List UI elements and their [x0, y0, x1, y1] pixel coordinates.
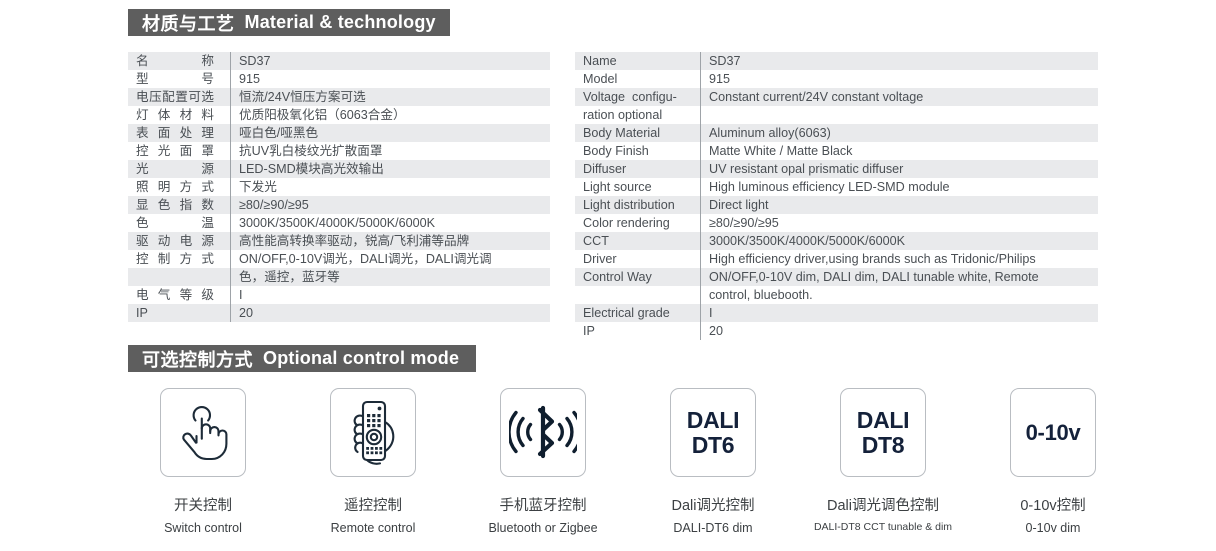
- spec-value: ON/OFF,0-10V调光，DALI调光，DALI调光调: [230, 250, 550, 268]
- spec-row: IP20: [575, 322, 1098, 340]
- control-mode-card[interactable]: [500, 388, 586, 477]
- spec-row: Electrical gradeI: [575, 304, 1098, 322]
- spec-value: LED-SMD模块高光效输出: [230, 160, 550, 178]
- spec-row: 型号915: [128, 70, 550, 88]
- control-mode-list: 开关控制Switch control 遥控控制Remote control: [128, 388, 1128, 535]
- spec-row: 表面处理哑白色/哑黑色: [128, 124, 550, 142]
- spec-label: Body Finish: [575, 142, 700, 160]
- control-mode-label-cn: 遥控控制: [344, 494, 402, 515]
- spec-value: 3000K/3500K/4000K/5000K/6000K: [700, 232, 1098, 250]
- control-mode-label-en: DALI-DT8 CCT tunable & dim: [814, 521, 952, 533]
- spec-label: Color rendering: [575, 214, 700, 232]
- spec-value: 915: [700, 70, 1098, 88]
- spec-label: IP: [128, 304, 230, 322]
- section-header-material-en: Material & technology: [245, 12, 436, 33]
- spec-row: 驱动电源高性能高转换率驱动，锐高/飞利浦等品牌: [128, 232, 550, 250]
- control-mode-card[interactable]: 0-10v: [1010, 388, 1096, 477]
- control-mode-label-en: Switch control: [164, 521, 242, 535]
- spec-label: Light distribution: [575, 196, 700, 214]
- spec-label: 光源: [128, 160, 230, 178]
- spec-label: 控光面罩: [128, 142, 230, 160]
- spec-label-text: 控光面罩: [136, 143, 214, 159]
- section-header-material-cn: 材质与工艺: [142, 10, 235, 36]
- control-mode-label-cn: 手机蓝牙控制: [500, 494, 587, 515]
- spec-label-text: 驱动电源: [136, 233, 214, 249]
- spec-label: CCT: [575, 232, 700, 250]
- spec-value: Matte White / Matte Black: [700, 142, 1098, 160]
- spec-label-text: 色温: [136, 215, 214, 231]
- control-mode-item[interactable]: DALIDT8Dali调光调色控制DALI-DT8 CCT tunable & …: [808, 388, 958, 535]
- spec-value: Direct light: [700, 196, 1098, 214]
- control-mode-label-cn: 开关控制: [174, 494, 232, 515]
- spec-label: 灯体材料: [128, 106, 230, 124]
- spec-value: ON/OFF,0-10V dim, DALI dim, DALI tunable…: [700, 268, 1098, 286]
- spec-label: Voltage configu-: [575, 88, 700, 106]
- spec-row: DriverHigh efficiency driver,using brand…: [575, 250, 1098, 268]
- spec-label-text: 型号: [136, 71, 214, 87]
- spec-row: control, bluebooth.: [575, 286, 1098, 304]
- spec-row: Voltage configu-Constant current/24V con…: [575, 88, 1098, 106]
- dali-dt6-badge-icon: DALIDT6: [687, 408, 739, 458]
- spec-row: DiffuserUV resistant opal prismatic diff…: [575, 160, 1098, 178]
- spec-label: 电气等级: [128, 286, 230, 304]
- spec-row: 照明方式下发光: [128, 178, 550, 196]
- dali-dt8-badge-icon: DALIDT8: [857, 408, 909, 458]
- control-mode-card[interactable]: [160, 388, 246, 477]
- spec-row: 显色指数≥80/≥90/≥95: [128, 196, 550, 214]
- spec-row: Color rendering≥80/≥90/≥95: [575, 214, 1098, 232]
- spec-row: 色温3000K/3500K/4000K/5000K/6000K: [128, 214, 550, 232]
- spec-row: 电气等级I: [128, 286, 550, 304]
- spec-value: 优质阳极氧化铝（6063合金）: [230, 106, 550, 124]
- section-header-control-mode: 可选控制方式 Optional control mode: [128, 345, 476, 372]
- spec-label: 显色指数: [128, 196, 230, 214]
- spec-label: Light source: [575, 178, 700, 196]
- spec-row: 电压配置可选恒流/24V恒压方案可选: [128, 88, 550, 106]
- spec-row: 灯体材料优质阳极氧化铝（6063合金）: [128, 106, 550, 124]
- control-mode-label-en: DALI-DT6 dim: [673, 521, 752, 535]
- spec-value: 915: [230, 70, 550, 88]
- spec-row: ration optional: [575, 106, 1098, 124]
- spec-row: IP20: [128, 304, 550, 322]
- spec-label: [128, 268, 230, 270]
- spec-value: High luminous efficiency LED-SMD module: [700, 178, 1098, 196]
- spec-table-chinese: 名称SD37型号915电压配置可选恒流/24V恒压方案可选灯体材料优质阳极氧化铝…: [128, 52, 550, 322]
- spec-value: 下发光: [230, 178, 550, 196]
- spec-value: 恒流/24V恒压方案可选: [230, 88, 550, 106]
- control-mode-label-en: Remote control: [331, 521, 416, 535]
- spec-value: SD37: [700, 52, 1098, 70]
- spec-value: 抗UV乳白棱纹光扩散面罩: [230, 142, 550, 160]
- spec-label: 照明方式: [128, 178, 230, 196]
- spec-row: Light sourceHigh luminous efficiency LED…: [575, 178, 1098, 196]
- control-mode-label-en: 0-10v dim: [1026, 521, 1081, 535]
- spec-label-text: 显色指数: [136, 197, 214, 213]
- zero-to-ten-volt-badge-icon: 0-10v: [1026, 421, 1081, 445]
- control-mode-label-cn: Dali调光调色控制: [827, 494, 939, 515]
- spec-label-text: 名称: [136, 53, 214, 69]
- control-mode-item[interactable]: 0-10v0-10v控制0-10v dim: [978, 388, 1128, 535]
- spec-table-english: NameSD37Model915Voltage configu-Constant…: [575, 52, 1098, 340]
- spec-label-text: 灯体材料: [136, 107, 214, 123]
- spec-label: Diffuser: [575, 160, 700, 178]
- spec-label: 电压配置可选: [128, 88, 230, 106]
- control-mode-item[interactable]: 遥控控制Remote control: [298, 388, 448, 535]
- spec-value: control, bluebooth.: [700, 286, 1098, 304]
- section-header-material: 材质与工艺 Material & technology: [128, 9, 450, 36]
- spec-row: Body MaterialAluminum alloy(6063): [575, 124, 1098, 142]
- spec-value: UV resistant opal prismatic diffuser: [700, 160, 1098, 178]
- spec-row: Model915: [575, 70, 1098, 88]
- control-mode-label-cn: Dali调光控制: [672, 494, 755, 515]
- spec-value: Constant current/24V constant voltage: [700, 88, 1098, 106]
- spec-value: High efficiency driver,using brands such…: [700, 250, 1098, 268]
- table-column-divider: [700, 52, 701, 340]
- touch-hand-icon: [175, 402, 231, 464]
- spec-row: 控光面罩抗UV乳白棱纹光扩散面罩: [128, 142, 550, 160]
- spec-label: 色温: [128, 214, 230, 232]
- spec-label: 表面处理: [128, 124, 230, 142]
- spec-row: Body FinishMatte White / Matte Black: [575, 142, 1098, 160]
- spec-row: 名称SD37: [128, 52, 550, 70]
- spec-row: 控制方式ON/OFF,0-10V调光，DALI调光，DALI调光调: [128, 250, 550, 268]
- section-header-control-en: Optional control mode: [263, 348, 459, 369]
- spec-label: 控制方式: [128, 250, 230, 268]
- spec-label: Name: [575, 52, 700, 70]
- spec-value: 哑白色/哑黑色: [230, 124, 550, 142]
- spec-value: ≥80/≥90/≥95: [230, 196, 550, 214]
- spec-label: Control Way: [575, 268, 700, 286]
- control-mode-item[interactable]: 手机蓝牙控制Bluetooth or Zigbee: [468, 388, 618, 535]
- spec-value: 色，遥控，蓝牙等: [230, 268, 550, 286]
- bluetooth-waves-icon: [509, 404, 577, 462]
- spec-label-text: 光源: [136, 161, 214, 177]
- spec-value: I: [230, 286, 550, 304]
- spec-label: 型号: [128, 70, 230, 88]
- control-mode-card[interactable]: DALIDT8: [840, 388, 926, 477]
- spec-label-text: 表面处理: [136, 125, 214, 141]
- spec-label: Driver: [575, 250, 700, 268]
- section-header-control-cn: 可选控制方式: [142, 346, 253, 372]
- spec-row: 光源LED-SMD模块高光效输出: [128, 160, 550, 178]
- spec-label-text: 电气等级: [136, 287, 214, 303]
- table-column-divider: [230, 52, 231, 322]
- spec-value: 20: [230, 304, 550, 322]
- spec-row: 色，遥控，蓝牙等: [128, 268, 550, 286]
- control-mode-item[interactable]: DALIDT6Dali调光控制DALI-DT6 dim: [638, 388, 788, 535]
- spec-label-text: 控制方式: [136, 251, 214, 267]
- spec-label: [575, 286, 700, 288]
- spec-label-text: 照明方式: [136, 179, 214, 195]
- spec-label-text: 电压配置可选: [136, 89, 214, 105]
- spec-label: ration optional: [575, 106, 700, 124]
- spec-value: [700, 106, 1098, 108]
- spec-label: Body Material: [575, 124, 700, 142]
- spec-row: Control WayON/OFF,0-10V dim, DALI dim, D…: [575, 268, 1098, 286]
- spec-value: I: [700, 304, 1098, 322]
- control-mode-label-cn: 0-10v控制: [1020, 494, 1085, 515]
- spec-value: 20: [700, 322, 1098, 340]
- spec-label: 驱动电源: [128, 232, 230, 250]
- spec-value: SD37: [230, 52, 550, 70]
- control-mode-card[interactable]: [330, 388, 416, 477]
- spec-row: NameSD37: [575, 52, 1098, 70]
- spec-value: 3000K/3500K/4000K/5000K/6000K: [230, 214, 550, 232]
- spec-row: CCT3000K/3500K/4000K/5000K/6000K: [575, 232, 1098, 250]
- spec-value: Aluminum alloy(6063): [700, 124, 1098, 142]
- spec-row: Light distributionDirect light: [575, 196, 1098, 214]
- hand-remote-icon: [343, 398, 403, 468]
- control-mode-label-en: Bluetooth or Zigbee: [488, 521, 597, 535]
- spec-label: IP: [575, 322, 700, 340]
- control-mode-item[interactable]: 开关控制Switch control: [128, 388, 278, 535]
- spec-label: Electrical grade: [575, 304, 700, 322]
- spec-value: ≥80/≥90/≥95: [700, 214, 1098, 232]
- spec-label: Model: [575, 70, 700, 88]
- spec-label: 名称: [128, 52, 230, 70]
- control-mode-card[interactable]: DALIDT6: [670, 388, 756, 477]
- spec-value: 高性能高转换率驱动，锐高/飞利浦等品牌: [230, 232, 550, 250]
